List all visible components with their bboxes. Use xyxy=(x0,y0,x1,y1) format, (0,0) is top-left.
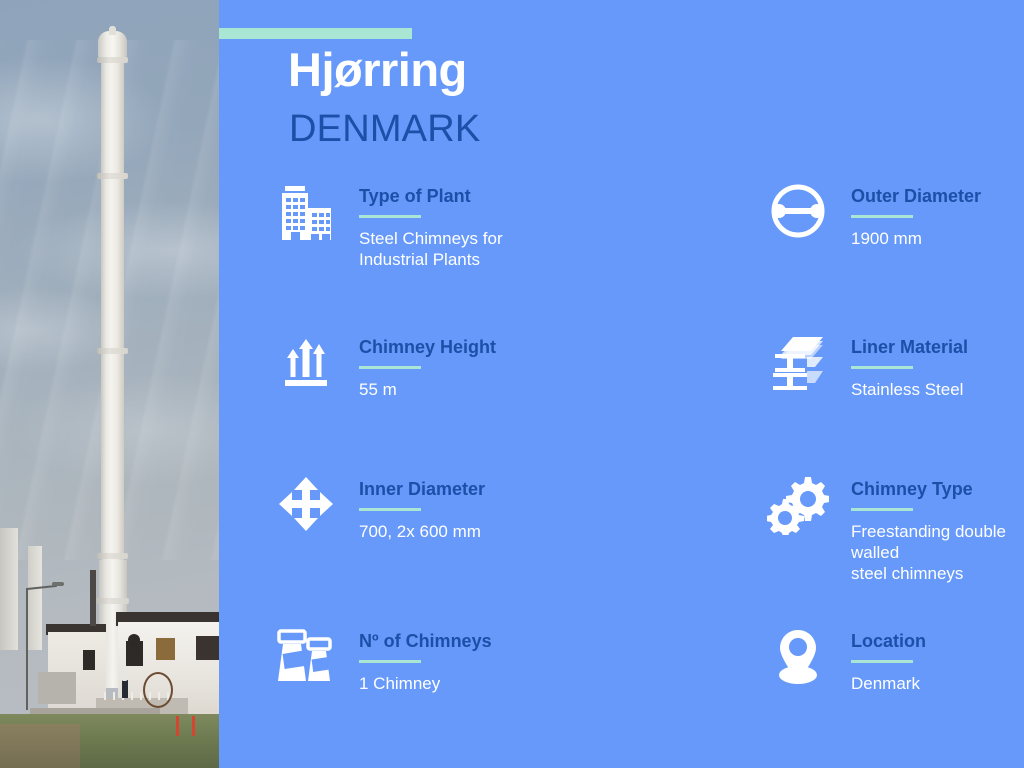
chimney-band xyxy=(97,173,128,179)
marker-post xyxy=(192,716,195,736)
spec-label: Location xyxy=(851,630,926,652)
chimney-stacks-icon xyxy=(275,625,337,687)
project-photo xyxy=(0,0,219,768)
building-window xyxy=(156,638,175,660)
label-underline xyxy=(359,508,421,511)
spec-item-number-of-chimneys: Nº of Chimneys 1 Chimney xyxy=(219,625,575,745)
spec-value: Freestanding double walled steel chimney… xyxy=(851,521,1024,584)
background-tower xyxy=(0,528,18,650)
spec-label: Outer Diameter xyxy=(851,185,981,207)
spec-row: Type of Plant Steel Chimneys for Industr… xyxy=(219,180,1024,331)
spec-item-type-of-plant: Type of Plant Steel Chimneys for Industr… xyxy=(219,180,575,331)
chimney-band xyxy=(97,348,128,354)
spec-label: Chimney Type xyxy=(851,478,1024,500)
accent-bar xyxy=(219,28,412,39)
wall-duct-opening xyxy=(128,634,140,646)
chimney-band xyxy=(96,598,129,604)
page-subtitle: DENMARK xyxy=(289,106,480,152)
spec-text: Outer Diameter 1900 mm xyxy=(851,180,981,249)
chimney-band xyxy=(97,553,128,559)
label-underline xyxy=(851,508,913,511)
label-underline xyxy=(359,660,421,663)
building-icon xyxy=(275,180,337,242)
spec-item-location: Location Denmark xyxy=(575,625,1024,745)
antenna-mast xyxy=(90,570,96,626)
background-tower-secondary xyxy=(28,546,42,650)
spec-label: Liner Material xyxy=(851,336,968,358)
spec-value: 1 Chimney xyxy=(359,673,492,694)
spec-value: Steel Chimneys for Industrial Plants xyxy=(359,228,503,270)
spec-label: Chimney Height xyxy=(359,336,496,358)
marker-post xyxy=(176,716,179,736)
label-underline xyxy=(851,660,913,663)
four-way-arrow-icon xyxy=(275,473,337,535)
label-underline xyxy=(851,366,913,369)
label-underline xyxy=(851,215,913,218)
worker-helmet xyxy=(121,676,128,681)
spec-value: 1900 mm xyxy=(851,228,981,249)
spec-value: Denmark xyxy=(851,673,926,694)
gears-icon xyxy=(767,473,829,535)
worker-figure xyxy=(122,680,128,698)
page-title: Hjørring xyxy=(288,42,467,98)
spec-text: Chimney Height 55 m xyxy=(359,331,496,400)
chimney-cap xyxy=(98,31,127,59)
utility-shed xyxy=(38,672,76,704)
label-underline xyxy=(359,215,421,218)
spec-text: Chimney Type Freestanding double walled … xyxy=(851,473,1024,584)
spec-item-chimney-type: Chimney Type Freestanding double walled … xyxy=(575,473,1024,625)
steel-beams-icon xyxy=(767,331,829,393)
chimney-tip xyxy=(109,26,116,35)
spec-item-outer-diameter: Outer Diameter 1900 mm xyxy=(575,180,1024,331)
spec-label: Nº of Chimneys xyxy=(359,630,492,652)
chimney-band xyxy=(97,57,128,63)
spec-value: 55 m xyxy=(359,379,496,400)
slide: Hjørring DENMARK xyxy=(0,0,1024,768)
diameter-circle-icon xyxy=(767,180,829,242)
spec-item-chimney-height: Chimney Height 55 m xyxy=(219,331,575,473)
dirt-patch xyxy=(0,724,80,768)
spec-row: Nº of Chimneys 1 Chimney Loca xyxy=(219,625,1024,745)
spec-label: Inner Diameter xyxy=(359,478,485,500)
info-panel: Hjørring DENMARK xyxy=(219,0,1024,768)
street-lamp-head xyxy=(52,582,64,586)
spec-text: Location Denmark xyxy=(851,625,926,694)
spec-label: Type of Plant xyxy=(359,185,503,207)
spec-text: Liner Material Stainless Steel xyxy=(851,331,968,400)
spec-row: Inner Diameter 700, 2x 600 mm xyxy=(219,473,1024,625)
spec-value: 700, 2x 600 mm xyxy=(359,521,485,542)
spec-text: Nº of Chimneys 1 Chimney xyxy=(359,625,492,694)
spec-item-inner-diameter: Inner Diameter 700, 2x 600 mm xyxy=(219,473,575,625)
street-lamp-pole xyxy=(26,588,28,710)
spec-item-liner-material: Liner Material Stainless Steel xyxy=(575,331,1024,473)
label-underline xyxy=(359,366,421,369)
map-pin-icon xyxy=(767,625,829,687)
spec-grid: Type of Plant Steel Chimneys for Industr… xyxy=(219,180,1024,745)
spec-value: Stainless Steel xyxy=(851,379,968,400)
spec-text: Inner Diameter 700, 2x 600 mm xyxy=(359,473,485,542)
building-window xyxy=(83,650,95,670)
spec-text: Type of Plant Steel Chimneys for Industr… xyxy=(359,180,503,270)
building-window xyxy=(196,636,219,660)
cable-reel xyxy=(143,672,173,708)
spec-row: Chimney Height 55 m xyxy=(219,331,1024,473)
up-arrows-icon xyxy=(275,331,337,393)
